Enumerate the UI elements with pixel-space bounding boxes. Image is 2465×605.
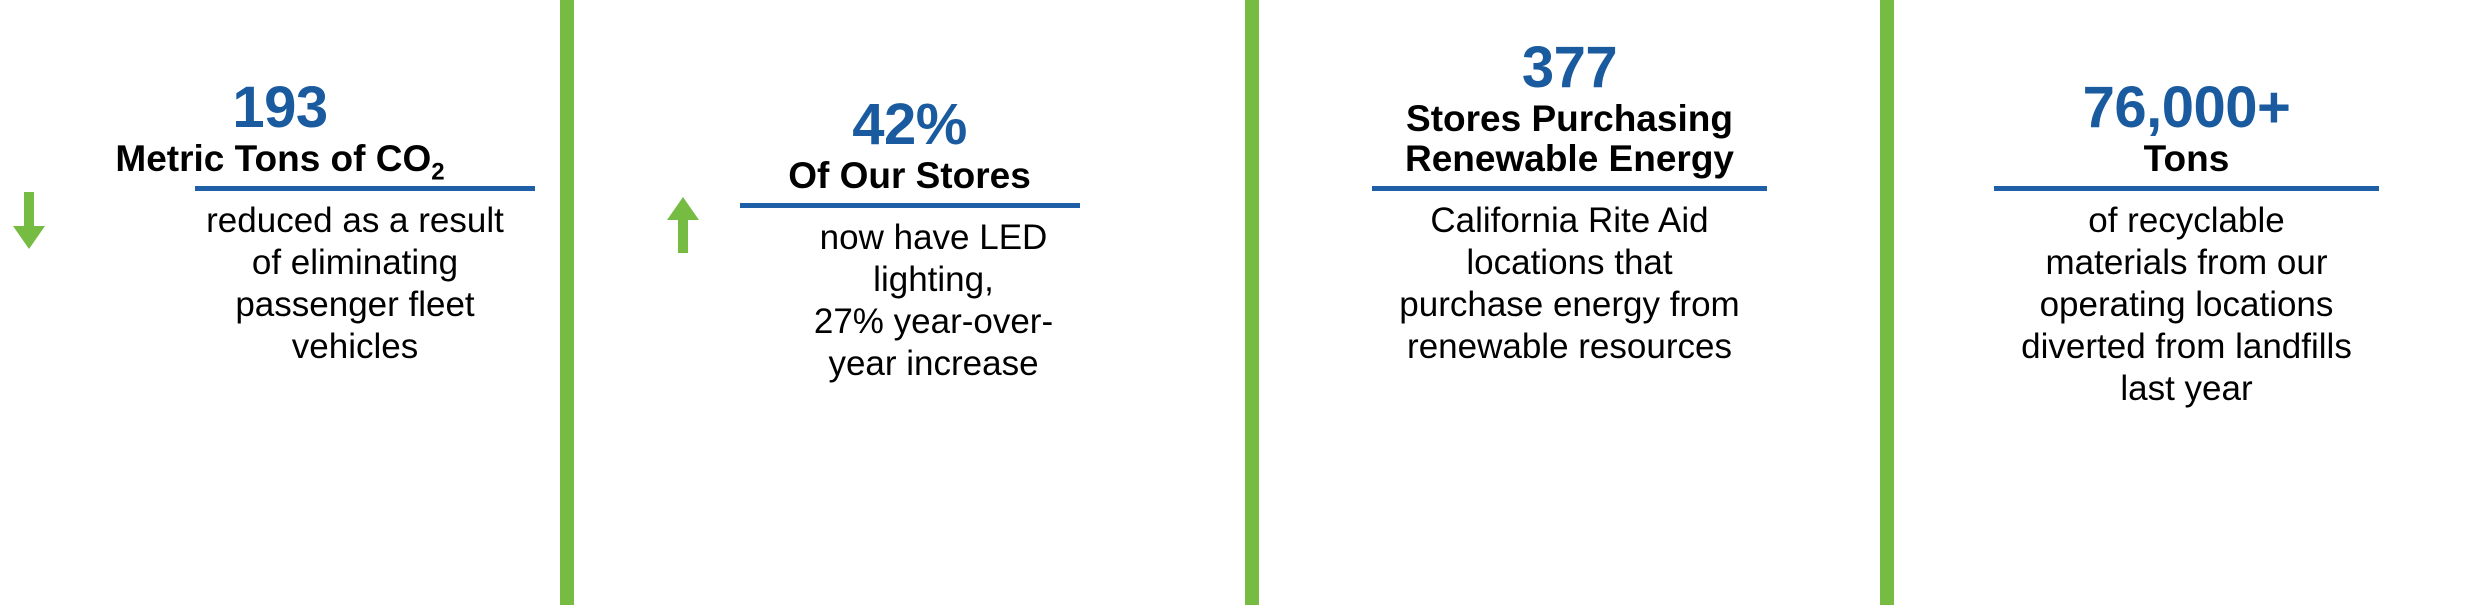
stat-body-text: now have LED lighting, 27% year-over- ye… (756, 217, 1111, 385)
arrow-up-icon (666, 196, 700, 254)
panel-separator-2 (1245, 0, 1259, 605)
stat-label-text: Tons (2144, 138, 2230, 179)
divider-rule (1994, 186, 2379, 191)
stat-panel-recycled-tons: 76,000+ Tons of recyclable materials fro… (1894, 0, 2465, 605)
stat-label-text: Of Our Stores (788, 155, 1031, 196)
divider-rule (195, 186, 535, 191)
stat-label: Tons (2144, 139, 2230, 179)
stat-panel-renewable-energy-stores: 377 Stores Purchasing Renewable Energy C… (1259, 0, 1880, 605)
divider-rule (740, 203, 1080, 208)
stat-number: 42% (852, 95, 967, 154)
stat-body-text: California Rite Aid locations that purch… (1335, 200, 1805, 368)
stat-number: 193 (232, 78, 327, 137)
stat-panel-co2-reduction: 193 Metric Tons of CO2 reduced as a resu… (0, 0, 560, 605)
sustainability-stats-infographic: 193 Metric Tons of CO2 reduced as a resu… (0, 0, 2465, 605)
panel-separator-3 (1880, 0, 1894, 605)
stat-body-text: of recyclable materials from our operati… (1972, 200, 2402, 410)
stat-label-text: Stores Purchasing Renewable Energy (1405, 98, 1734, 179)
stat-number: 76,000+ (2083, 78, 2291, 137)
panel-separator-1 (560, 0, 574, 605)
stat-number: 377 (1522, 38, 1617, 97)
divider-rule (1372, 186, 1767, 191)
stat-body-text: reduced as a result of eliminating passe… (175, 200, 535, 368)
stat-label-subscript: 2 (431, 159, 444, 186)
stat-label: Stores Purchasing Renewable Energy (1405, 99, 1734, 179)
stat-label: Of Our Stores (788, 156, 1031, 196)
arrow-down-icon (12, 192, 46, 250)
stat-label: Metric Tons of CO2 (115, 139, 444, 179)
stat-label-text: Metric Tons of CO (115, 138, 431, 179)
stat-panel-led-lighting: 42% Of Our Stores now have LED lighting,… (574, 0, 1245, 605)
